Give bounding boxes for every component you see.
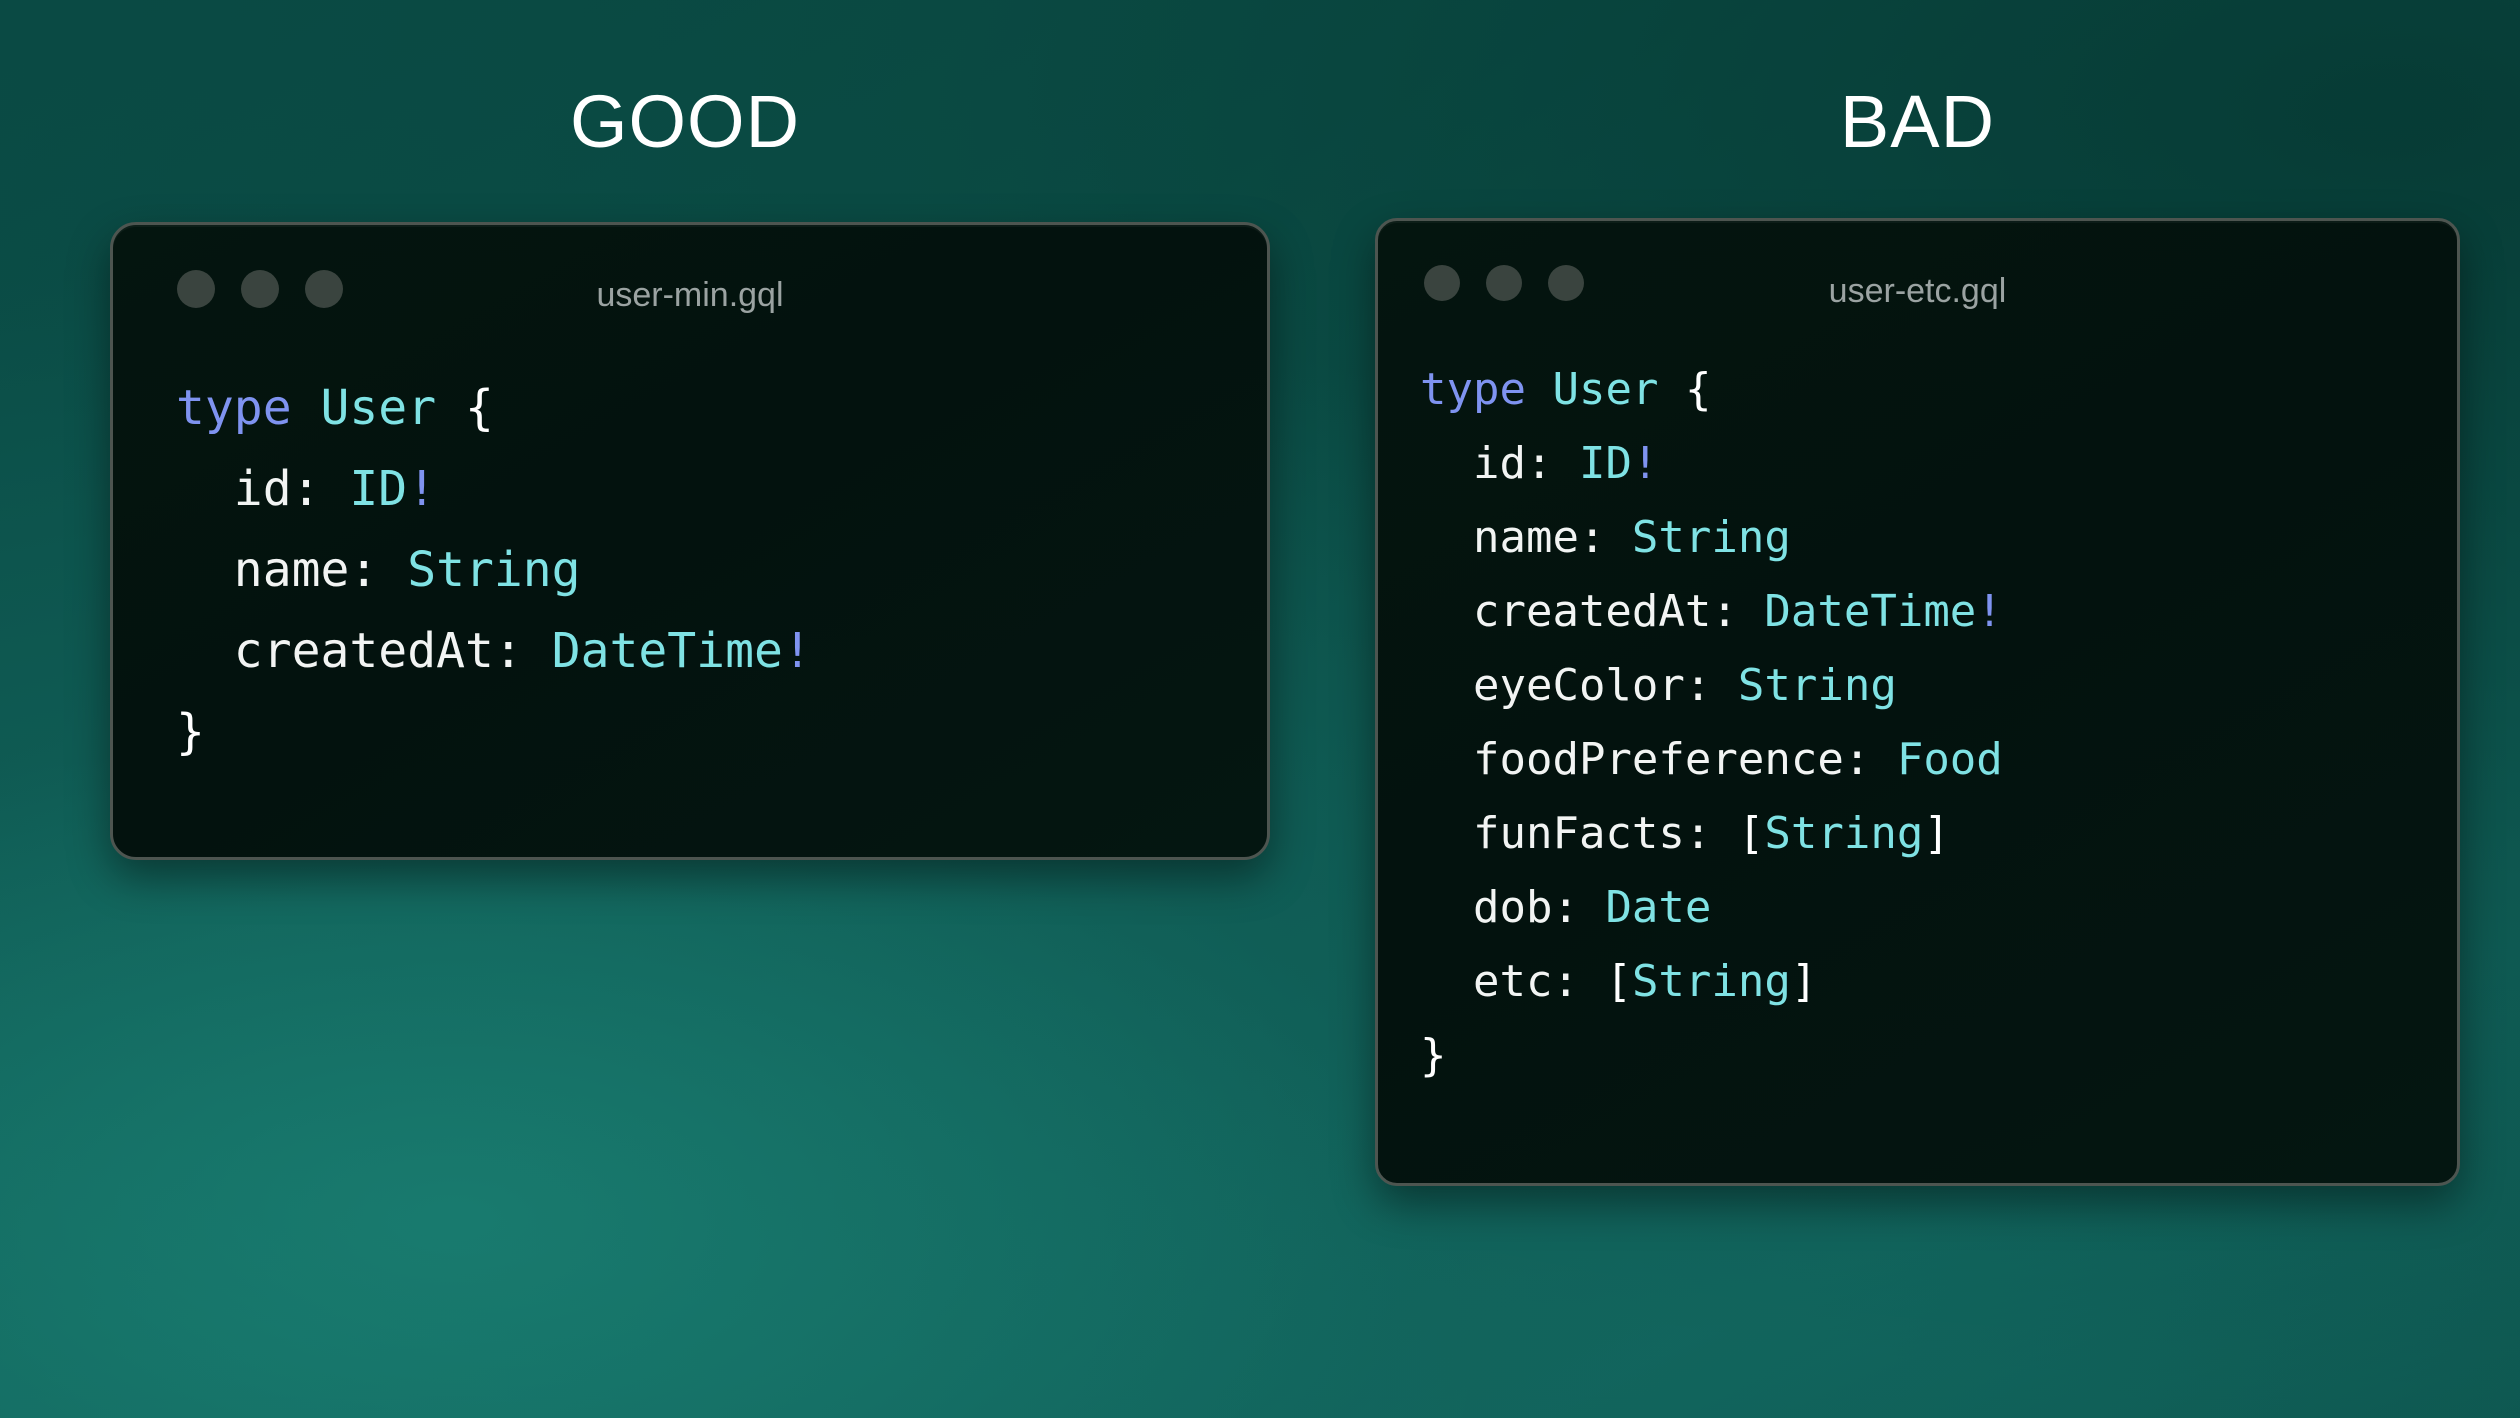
- code-token-bang: !: [407, 461, 436, 517]
- bad-window-filename: user-etc.gql: [1378, 274, 2457, 308]
- good-code-block: type User { id: ID! name: String created…: [176, 368, 812, 773]
- code-token-punct: [436, 380, 465, 436]
- code-token-field: foodPreference:: [1420, 734, 1897, 785]
- code-token-field: name:: [176, 542, 407, 598]
- code-line: }: [176, 692, 812, 773]
- code-token-type: ID: [349, 461, 407, 517]
- code-token-type: User: [1552, 364, 1658, 415]
- good-panel-heading: GOOD: [110, 85, 1260, 159]
- code-line: etc: [String]: [1420, 945, 2003, 1019]
- good-code-window: user-min.gql type User { id: ID! name: S…: [110, 222, 1270, 860]
- code-token-field: dob:: [1420, 882, 1605, 933]
- code-token-field: id:: [1420, 438, 1579, 489]
- code-token-punct: ]: [1923, 808, 1950, 859]
- code-line: }: [1420, 1019, 2003, 1093]
- code-token-type: String: [1632, 956, 1791, 1007]
- code-token-kw: type: [1420, 364, 1526, 415]
- code-token-type: User: [321, 380, 437, 436]
- code-token-punct: [: [1605, 956, 1632, 1007]
- code-token-punct: {: [1685, 364, 1712, 415]
- code-line: name: String: [1420, 501, 2003, 575]
- code-token-field: id:: [176, 461, 349, 517]
- good-window-titlebar: user-min.gql: [113, 225, 1267, 333]
- code-line: foodPreference: Food: [1420, 723, 2003, 797]
- code-line: id: ID!: [176, 449, 812, 530]
- code-token-field: createdAt:: [1420, 586, 1764, 637]
- code-line: id: ID!: [1420, 427, 2003, 501]
- code-line: type User {: [1420, 353, 2003, 427]
- code-line: createdAt: DateTime!: [1420, 575, 2003, 649]
- code-token-type: DateTime: [552, 623, 783, 679]
- code-token-field: etc:: [1420, 956, 1605, 1007]
- code-token-punct: [292, 380, 321, 436]
- bad-panel-heading: BAD: [1375, 85, 2460, 159]
- code-token-field: createdAt:: [176, 623, 552, 679]
- code-token-type: String: [1764, 808, 1923, 859]
- code-token-bang: !: [1632, 438, 1659, 489]
- code-token-type: Food: [1897, 734, 2003, 785]
- comparison-slide: GOOD BAD user-min.gql type User { id: ID…: [0, 0, 2520, 1418]
- code-token-punct: [1526, 364, 1553, 415]
- code-line: funFacts: [String]: [1420, 797, 2003, 871]
- code-token-punct: [1658, 364, 1685, 415]
- code-token-field: funFacts:: [1420, 808, 1738, 859]
- code-token-punct: }: [176, 704, 205, 760]
- code-token-type: Date: [1605, 882, 1711, 933]
- code-token-type: DateTime: [1764, 586, 1976, 637]
- code-line: dob: Date: [1420, 871, 2003, 945]
- code-token-punct: }: [1420, 1030, 1447, 1081]
- code-token-bang: !: [1976, 586, 2003, 637]
- code-token-punct: {: [465, 380, 494, 436]
- bad-window-titlebar: user-etc.gql: [1378, 221, 2457, 325]
- code-token-field: name:: [1420, 512, 1632, 563]
- code-token-kw: type: [176, 380, 292, 436]
- code-token-bang: !: [783, 623, 812, 679]
- code-line: createdAt: DateTime!: [176, 611, 812, 692]
- bad-code-block: type User { id: ID! name: String created…: [1420, 353, 2003, 1093]
- code-line: type User {: [176, 368, 812, 449]
- code-token-punct: ]: [1791, 956, 1818, 1007]
- code-token-type: String: [1632, 512, 1791, 563]
- code-line: name: String: [176, 530, 812, 611]
- code-token-type: ID: [1579, 438, 1632, 489]
- code-token-type: String: [1738, 660, 1897, 711]
- code-token-punct: [: [1738, 808, 1765, 859]
- good-window-filename: user-min.gql: [113, 278, 1267, 312]
- code-token-field: eyeColor:: [1420, 660, 1738, 711]
- code-token-type: String: [407, 542, 580, 598]
- code-line: eyeColor: String: [1420, 649, 2003, 723]
- bad-code-window: user-etc.gql type User { id: ID! name: S…: [1375, 218, 2460, 1186]
